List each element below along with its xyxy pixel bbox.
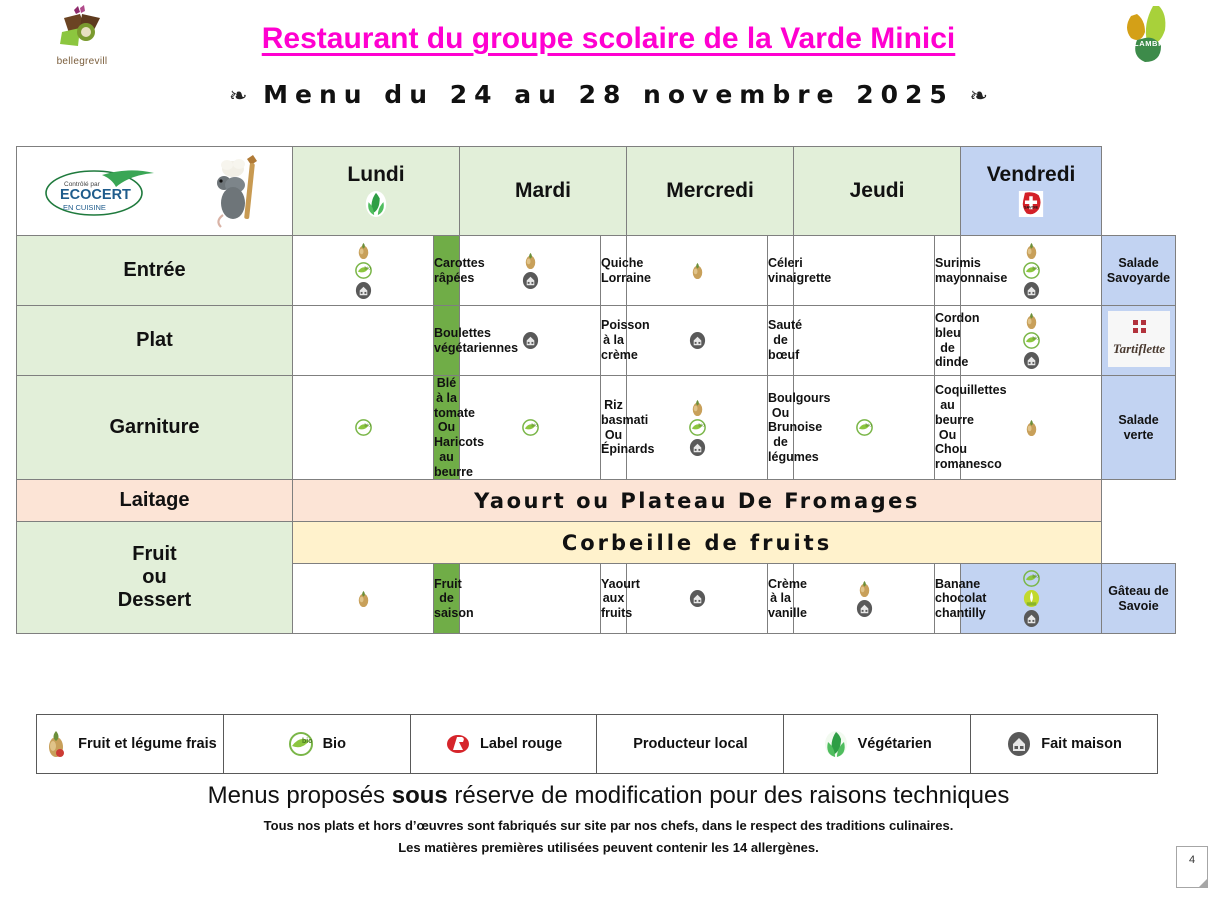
table-row-entree: Entrée bio Carottes râpées Quiche Lorrai… [17, 236, 1176, 306]
icon-cell-entree-lundi: bio [293, 236, 434, 306]
page-number: 4 [1189, 854, 1195, 866]
menu-cell-dessert-lundi: Fruit de saison [434, 564, 460, 634]
svg-text:bio: bio [865, 423, 872, 429]
bio-icon: bio [1022, 569, 1041, 588]
menu-cell-plat-jeudi: Cordon bleu de dinde [935, 306, 961, 376]
bellegrevill-logo-text: bellegrevill [34, 56, 130, 67]
svg-text:ECOCERT: ECOCERT [60, 187, 131, 203]
legend-item-vegetarien: Végétarien [784, 715, 971, 773]
legend-bar: Fruit et légume frais bio Bio Label roug… [36, 714, 1158, 774]
day-label: Lundi [293, 163, 459, 187]
label-rouge-icon [445, 729, 472, 759]
fruit-legume-frais-icon [1022, 311, 1041, 330]
certification-cell: Contrôlé par ECOCERT EN CUISINE [17, 147, 293, 236]
laitage-banner: Yaourt ou Plateau De Fromages [293, 480, 1102, 522]
fait-maison-icon [855, 599, 874, 618]
bio-icon: bio [288, 729, 315, 759]
footer-part-bold: sous [392, 782, 448, 809]
menu-period-subtitle: ❧ Menu du 24 au 28 novembre 2025 ❧ [0, 80, 1217, 109]
menu-cell-entree-lundi: Carottes râpées [434, 236, 460, 306]
row-label-garniture: Garniture [17, 376, 293, 480]
tartiflette-logo-icon: Tartiflette [1108, 311, 1170, 367]
icon-cell-dessert-mercredi [627, 564, 768, 634]
icon-cell-dessert-mardi [460, 564, 601, 634]
legend-item-label-rouge: Label rouge [411, 715, 598, 773]
fruit-legume-frais-icon [688, 261, 707, 280]
legend-label: Bio [323, 736, 346, 752]
svg-text:SAVOIE: SAVOIE [1024, 205, 1039, 209]
legend-item-fait-maison: Fait maison [971, 715, 1157, 773]
day-header-mercredi: Mercredi [627, 147, 794, 236]
day-header-vendredi: Vendredi SAVOIE [961, 147, 1102, 236]
menu-cell-plat-vendredi: Tartiflette [1102, 306, 1176, 376]
table-header-row: Contrôlé par ECOCERT EN CUISINE [17, 147, 1176, 236]
icon-cell-plat-jeudi [794, 306, 935, 376]
icon-cell-garniture-lundi: bio [293, 376, 434, 480]
footer-part-c: réserve de modification pour des raisons… [448, 782, 1010, 809]
icon-cell-dessert-jeudi [794, 564, 935, 634]
fait-maison-icon [1022, 609, 1041, 628]
legend-label: Label rouge [480, 736, 562, 752]
table-row-plat: Plat Boulettes végétariennes Poisson à l… [17, 306, 1176, 376]
vegetarien-icon [823, 729, 850, 759]
fait-maison-icon [354, 281, 373, 300]
fait-maison-icon [688, 331, 707, 350]
bio-icon: bio [521, 418, 540, 437]
fruit-legume-frais-icon [688, 398, 707, 417]
page-thumbnail[interactable]: 4 [1176, 846, 1208, 888]
icon-cell-entree-mardi [460, 236, 601, 306]
day-label: Vendredi [961, 163, 1101, 187]
page-title: Restaurant du groupe scolaire de la Vard… [0, 22, 1217, 56]
bio-icon: bio [354, 261, 373, 280]
fruit-legume-frais-icon [1022, 418, 1041, 437]
bio-icon: bio [1022, 261, 1041, 280]
page-header: bellegrevill Restaurant du groupe scolai… [0, 0, 1217, 78]
row-label-plat: Plat [17, 306, 293, 376]
menu-cell-garniture-mercredi: Boulgours Ou Brunoise de légumes [768, 376, 794, 480]
ornament-left-icon: ❧ [229, 84, 247, 109]
vegetarien-icon [363, 189, 389, 219]
menu-table: Contrôlé par ECOCERT EN CUISINE [16, 146, 1176, 634]
fait-maison-icon [1022, 281, 1041, 300]
row-label-laitage: Laitage [17, 480, 293, 522]
svg-text:bio: bio [531, 423, 538, 429]
fruit-legume-frais-icon [354, 241, 373, 260]
legend-label: Fait maison [1041, 736, 1122, 752]
valambray-logo-text: VALAMBRAY [1101, 39, 1197, 48]
footer-disclaimer-main: Menus proposés sous réserve de modificat… [0, 782, 1217, 810]
menu-cell-dessert-jeudi: Banane chocolat chantilly [935, 564, 961, 634]
menu-cell-plat-lundi: Boulettes végétariennes [434, 306, 460, 376]
bio-icon: bio [688, 418, 707, 437]
day-header-mardi: Mardi [460, 147, 627, 236]
day-header-jeudi: Jeudi [794, 147, 961, 236]
svg-text:bio: bio [1032, 574, 1039, 580]
legend-item-bio: bio Bio [224, 715, 411, 773]
menu-cell-entree-jeudi: Surimis mayonnaise [935, 236, 961, 306]
ecocert-logo-icon: Contrôlé par ECOCERT EN CUISINE [42, 159, 162, 223]
svg-text:bio: bio [364, 266, 371, 272]
day-label: Mardi [460, 179, 626, 203]
icon-cell-plat-vendredi: bio [961, 306, 1102, 376]
menu-cell-plat-mardi: Poisson à la crème [601, 306, 627, 376]
table-row-fruit-banner: Fruit ou Dessert Corbeille de fruits [17, 522, 1176, 564]
chef-rat-mascot-icon [211, 151, 267, 231]
legend-label: Producteur local [633, 736, 747, 752]
svg-text:bio: bio [1032, 336, 1039, 342]
ornament-right-icon: ❧ [970, 84, 988, 109]
menu-cell-garniture-vendredi: Salade verte [1102, 376, 1176, 480]
aop-badge-icon [1022, 589, 1041, 608]
table-row-laitage: Laitage Yaourt ou Plateau De Fromages [17, 480, 1176, 522]
fruit-legume-frais-icon [1022, 241, 1041, 260]
legend-item-producteur-local: Producteur local [597, 715, 784, 773]
fruit-legume-frais-icon [521, 251, 540, 270]
icon-cell-dessert-lundi [293, 564, 434, 634]
menu-cell-entree-mercredi: Céleri vinaigrette [768, 236, 794, 306]
svg-text:bio: bio [1032, 266, 1039, 272]
icon-cell-plat-mercredi [627, 306, 768, 376]
row-label-fruit-dessert: Fruit ou Dessert [17, 522, 293, 634]
icon-cell-plat-lundi [293, 306, 434, 376]
fait-maison-icon [1022, 351, 1041, 370]
fruit-legume-frais-icon [43, 729, 70, 759]
menu-cell-garniture-mardi: Riz basmati Ou Épinards [601, 376, 627, 480]
svg-text:bio: bio [698, 423, 705, 429]
day-label: Jeudi [794, 179, 960, 203]
row-label-entree: Entrée [17, 236, 293, 306]
svg-text:EN CUISINE: EN CUISINE [63, 203, 106, 212]
menu-cell-plat-mercredi: Sauté de bœuf [768, 306, 794, 376]
menu-period-text: Menu du 24 au 28 novembre 2025 [263, 80, 954, 109]
menu-cell-garniture-lundi: Blé à la tomate Ou Haricots au beurre [434, 376, 460, 480]
legend-label: Fruit et légume frais [78, 736, 217, 752]
day-label: Mercredi [627, 179, 793, 203]
valambray-logo: VALAMBRAY [1101, 4, 1197, 70]
svg-text:bio: bio [364, 423, 371, 429]
menu-cell-entree-vendredi: Salade Savoyarde [1102, 236, 1176, 306]
fait-maison-icon [688, 438, 707, 457]
fruit-legume-frais-icon [354, 589, 373, 608]
menu-cell-garniture-jeudi: Coquillettes au beurre Ou Chou romanesco [935, 376, 961, 480]
fait-maison-icon [688, 589, 707, 608]
menu-cell-dessert-mardi: Yaourt aux fruits [601, 564, 627, 634]
day-header-lundi: Lundi [293, 147, 460, 236]
fruit-legume-frais-icon [855, 579, 874, 598]
fait-maison-icon [521, 331, 540, 350]
footer-note-allergenes: Les matières premières utilisées peuvent… [0, 840, 1217, 855]
bio-icon: bio [855, 418, 874, 437]
menu-cell-dessert-mercredi: Crème à la vanille [768, 564, 794, 634]
legend-item-fruit-legume-frais: Fruit et légume frais [37, 715, 224, 773]
svg-text:bio: bio [302, 738, 313, 745]
footer-part-a: Menus proposés [208, 782, 392, 809]
footer-note-production: Tous nos plats et hors d’œuvres sont fab… [0, 818, 1217, 833]
savoie-flag-icon: SAVOIE [1018, 189, 1044, 219]
menu-table-wrapper: Contrôlé par ECOCERT EN CUISINE [16, 146, 1176, 634]
svg-text:Tartiflette: Tartiflette [1112, 341, 1164, 356]
fait-maison-icon [521, 271, 540, 290]
fait-maison-icon [1006, 729, 1033, 759]
icon-cell-garniture-mercredi: bio [627, 376, 768, 480]
icon-cell-garniture-mardi: bio [460, 376, 601, 480]
bio-icon: bio [354, 418, 373, 437]
bio-icon: bio [1022, 331, 1041, 350]
menu-cell-dessert-vendredi: Gâteau de Savoie [1102, 564, 1176, 634]
legend-label: Végétarien [858, 736, 932, 752]
table-row-garniture: Garniture bio Blé à la tomate Ou Haricot… [17, 376, 1176, 480]
menu-cell-entree-mardi: Quiche Lorraine [601, 236, 627, 306]
corbeille-banner: Corbeille de fruits [293, 522, 1102, 564]
